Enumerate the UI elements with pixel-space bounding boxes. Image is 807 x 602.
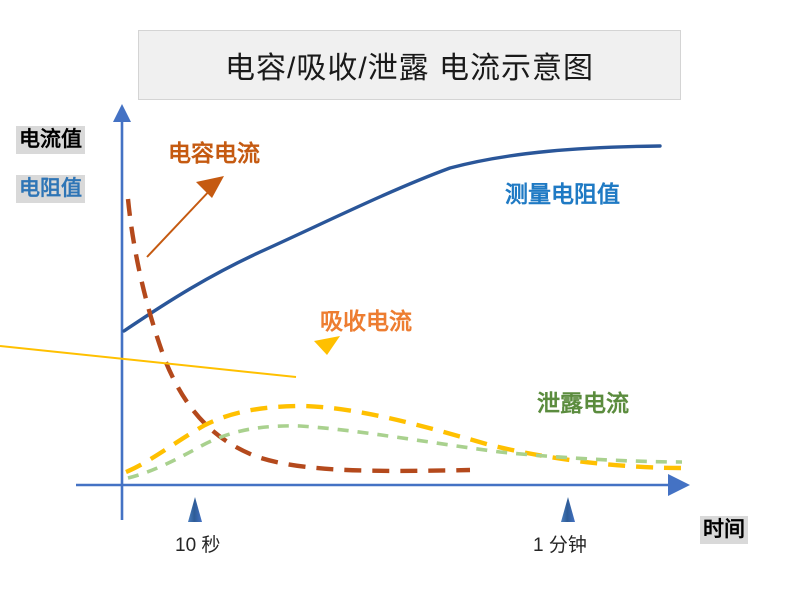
x-axis-label-time: 时间 — [700, 516, 748, 544]
slide-canvas: 电容/吸收/泄露 电流示意图 电流值 电阻值 时间 电容电流 测量电阻值 吸收电… — [0, 0, 807, 602]
title-box: 电容/吸收/泄露 电流示意图 — [138, 30, 681, 100]
page-title: 电容/吸收/泄露 电流示意图 — [225, 43, 594, 87]
x-tick-marker-10s — [188, 497, 202, 522]
annotation-absorption-current: 吸收电流 — [320, 310, 412, 333]
x-axis-arrowhead — [668, 474, 690, 496]
annotation-capacitive-current: 电容电流 — [168, 142, 260, 165]
y-axis — [113, 104, 131, 520]
x-tick-label-10s: 10 秒 — [175, 530, 220, 557]
leader-arrow-capacitive — [147, 176, 224, 257]
y-axis-label-resistance: 电阻值 — [16, 175, 85, 203]
y-axis-label-current: 电流值 — [16, 126, 85, 154]
annotation-leakage-current: 泄露电流 — [537, 392, 629, 415]
annotation-measured-resistance: 测量电阻值 — [505, 183, 620, 206]
x-tick-marker-1min — [561, 497, 575, 522]
series-capacitive-current — [128, 199, 470, 471]
series-leakage-current — [128, 426, 682, 478]
y-axis-arrowhead — [113, 104, 131, 122]
x-axis — [76, 474, 690, 496]
series-measured-resistance — [124, 146, 660, 331]
leader-arrow-absorption — [0, 336, 340, 377]
x-tick-label-1min: 1 分钟 — [533, 530, 587, 557]
